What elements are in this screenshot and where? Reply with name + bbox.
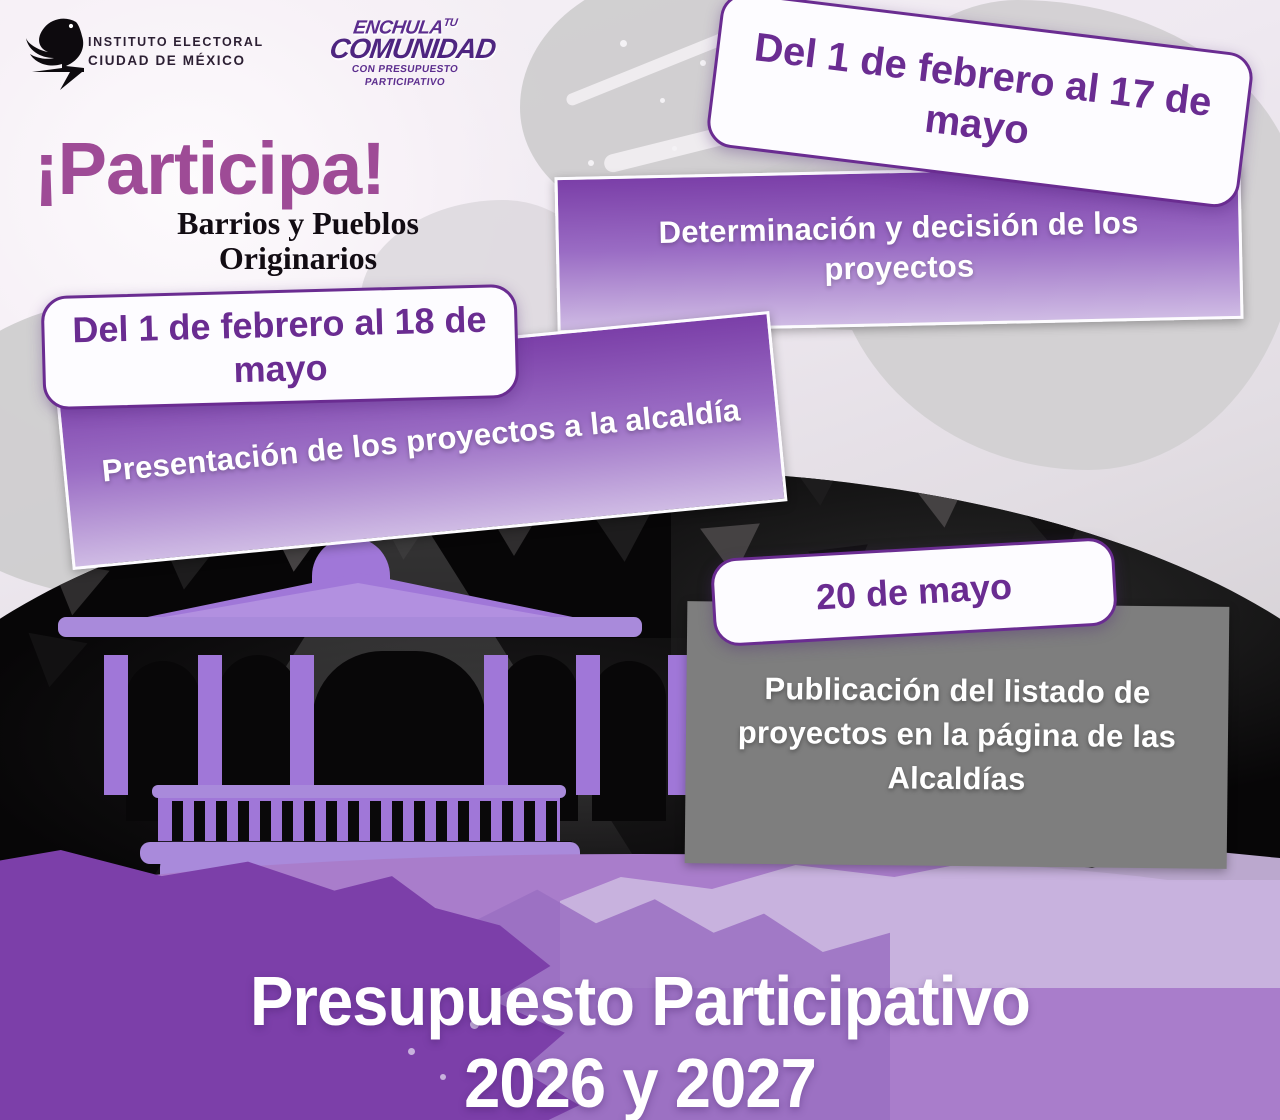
footer-title-line1: Presupuesto Participativo (45, 960, 1235, 1042)
gazebo-baluster (502, 801, 513, 841)
date-text-presentacion: Del 1 de febrero al 18 de mayo (44, 297, 516, 397)
gazebo-baluster (392, 801, 403, 841)
gazebo-roof-edge (58, 617, 642, 637)
gazebo-baluster (304, 801, 315, 841)
gazebo-baluster (216, 801, 227, 841)
gazebo-baluster (326, 801, 337, 841)
gazebo-column (484, 655, 508, 795)
date-pill-presentacion: Del 1 de febrero al 18 de mayo (41, 284, 520, 410)
gazebo-column (290, 655, 314, 795)
callout-body-publicacion: Publicación del listado de proyectos en … (685, 666, 1228, 804)
page-subtitle-line1: Barrios y Pueblos (88, 205, 508, 241)
gazebo-arch (592, 661, 666, 821)
gazebo-baluster (260, 801, 271, 841)
background-dot (588, 160, 594, 166)
enchula-superscript: TU (443, 17, 458, 29)
gazebo-baluster (480, 801, 491, 841)
gazebo-column (104, 655, 128, 795)
enchula-logo-line2: COMUNIDAD (328, 35, 482, 62)
page-subtitle-line2: Originarios (88, 240, 508, 276)
enchula-logo: ENCHULATU COMUNIDAD CON PRESUPUESTO PART… (330, 18, 480, 98)
gazebo-column (198, 655, 222, 795)
gazebo-column (576, 655, 600, 795)
gazebo-baluster (238, 801, 249, 841)
eagle-glyph-icon (26, 14, 88, 94)
background-dot (672, 146, 677, 151)
gazebo-baluster (282, 801, 293, 841)
gazebo-baluster (546, 801, 557, 841)
background-dot (620, 40, 627, 47)
gazebo-baluster (414, 801, 425, 841)
gazebo-baluster (194, 801, 205, 841)
bunting-flag-icon (778, 470, 858, 508)
iecm-logo-line2: CIUDAD DE MÉXICO (88, 52, 246, 69)
enchula-logo-line3: CON PRESUPUESTO (329, 64, 481, 75)
gazebo-baluster (524, 801, 535, 841)
iecm-logo: INSTITUTO ELECTORAL CIUDAD DE MÉXICO (26, 14, 266, 94)
gazebo-baluster (348, 801, 359, 841)
date-text-publicacion: 20 de mayo (793, 563, 1035, 620)
poster-canvas: INSTITUTO ELECTORAL CIUDAD DE MÉXICO ENC… (0, 0, 1280, 1120)
enchula-logo-line4: PARTICIPATIVO (329, 77, 481, 88)
gazebo-railing-cap (152, 785, 566, 798)
footer-title-line2: 2026 y 2027 (45, 1042, 1235, 1120)
footer-title: Presupuesto Participativo 2026 y 2027 (0, 960, 1280, 1120)
background-dot (660, 98, 665, 103)
gazebo-baluster (172, 801, 183, 841)
iecm-logo-line1: INSTITUTO ELECTORAL (88, 34, 264, 50)
gazebo-baluster (436, 801, 447, 841)
bunting-flag-icon (900, 470, 982, 532)
gazebo-baluster (458, 801, 469, 841)
page-title: ¡Participa! (34, 132, 385, 206)
callout-body-determinacion: Determinación y decisión de los proyecto… (558, 201, 1240, 295)
gazebo-baluster (370, 801, 381, 841)
background-dot (700, 60, 706, 66)
